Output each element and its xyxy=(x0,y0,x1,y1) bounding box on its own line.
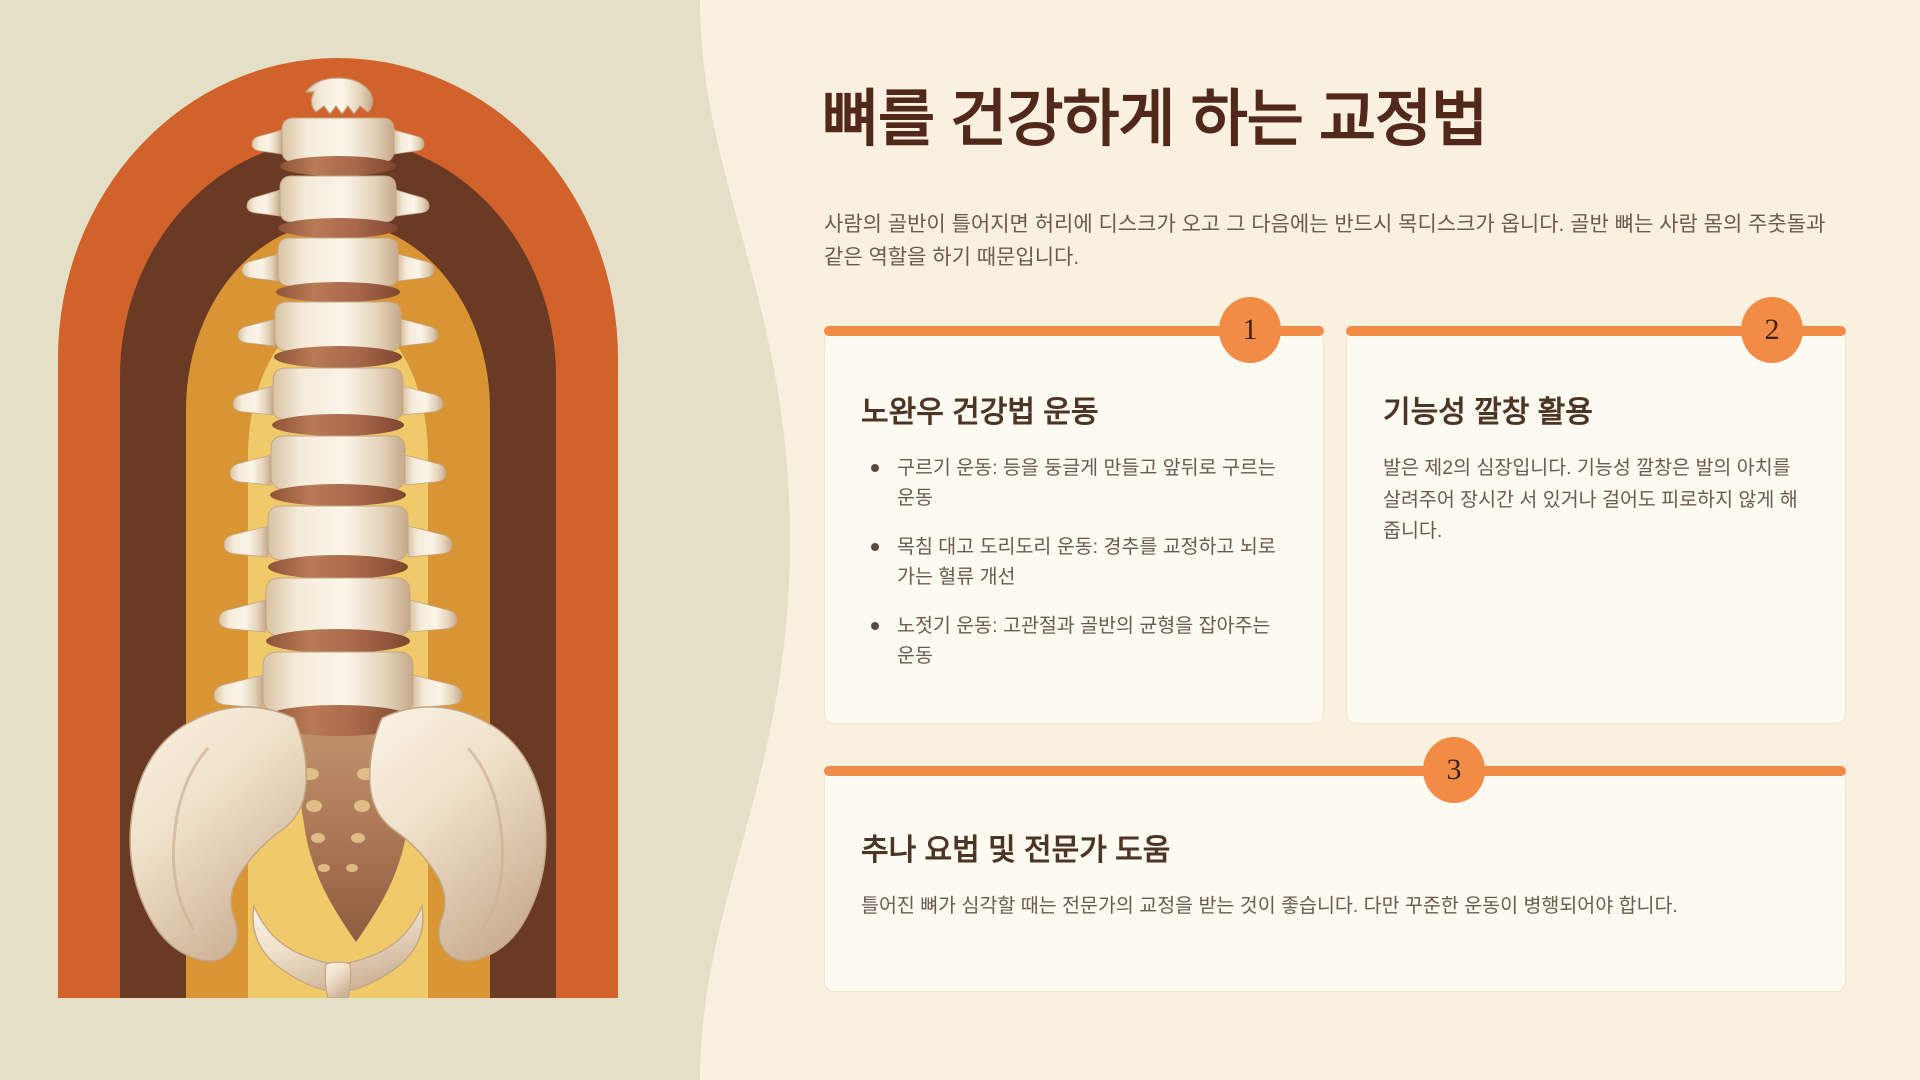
card-3-number-badge: 3 xyxy=(1423,737,1485,803)
card-2-number-badge: 2 xyxy=(1741,297,1803,363)
card-3-title: 추나 요법 및 전문가 도움 xyxy=(861,825,1809,869)
bullet-icon xyxy=(871,543,879,551)
card-3[interactable]: 3 추나 요법 및 전문가 도움 틀어진 뼈가 심각할 때는 전문가의 교정을 … xyxy=(824,770,1846,992)
card-3-top-accent-bar xyxy=(824,766,1846,776)
pubic-symphysis xyxy=(325,962,350,998)
list-item-text: 노젓기 운동: 고관절과 골반의 균형을 잡아주는 운동 xyxy=(897,615,1270,667)
spine-and-pelvis-anatomy-illustration xyxy=(58,58,618,998)
list-item: 노젓기 운동: 고관절과 골반의 균형을 잡아주는 운동 xyxy=(861,611,1287,672)
card-1[interactable]: 1 노완우 건강법 운동 구르기 운동: 등을 둥글게 만들고 앞뒤로 구르는 … xyxy=(824,330,1324,724)
list-item: 목침 대고 도리도리 운동: 경추를 교정하고 뇌로 가는 혈류 개선 xyxy=(861,532,1287,593)
list-item: 구르기 운동: 등을 둥글게 만들고 앞뒤로 구르는 운동 xyxy=(861,453,1287,514)
bullet-icon xyxy=(871,622,879,630)
card-1-number-badge: 1 xyxy=(1219,297,1281,363)
card-3-body: 틀어진 뼈가 심각할 때는 전문가의 교정을 받는 것이 좋습니다. 다만 꾸준… xyxy=(861,891,1809,923)
card-2[interactable]: 2 기능성 깔창 활용 발은 제2의 심장입니다. 기능성 깔창은 발의 아치를… xyxy=(1346,330,1846,724)
content-panel: 뼈를 건강하게 하는 교정법 사람의 골반이 틀어지면 허리에 디스크가 오고 … xyxy=(790,0,1920,1080)
bullet-icon xyxy=(871,464,879,472)
card-3-wrapper: 3 추나 요법 및 전문가 도움 틀어진 뼈가 심각할 때는 전문가의 교정을 … xyxy=(824,770,1846,992)
illustration-panel xyxy=(0,0,790,1080)
list-item-text: 구르기 운동: 등을 둥글게 만들고 앞뒤로 구르는 운동 xyxy=(897,457,1276,509)
card-2-body: 발은 제2의 심장입니다. 기능성 깔창은 발의 아치를 살려주어 장시간 서 … xyxy=(1383,453,1809,548)
anatomy-svg xyxy=(58,58,618,998)
page-subtitle: 사람의 골반이 틀어지면 허리에 디스크가 오고 그 다음에는 반드시 목디스크… xyxy=(824,208,1844,274)
list-item-text: 목침 대고 도리도리 운동: 경추를 교정하고 뇌로 가는 혈류 개선 xyxy=(897,536,1276,588)
card-1-list: 구르기 운동: 등을 둥글게 만들고 앞뒤로 구르는 운동 목침 대고 도리도리… xyxy=(861,453,1287,671)
cards-row: 1 노완우 건강법 운동 구르기 운동: 등을 둥글게 만들고 앞뒤로 구르는 … xyxy=(824,330,1846,724)
page-title: 뼈를 건강하게 하는 교정법 xyxy=(822,68,1487,158)
card-2-title: 기능성 깔창 활용 xyxy=(1383,387,1809,431)
card-1-title: 노완우 건강법 운동 xyxy=(861,387,1287,431)
